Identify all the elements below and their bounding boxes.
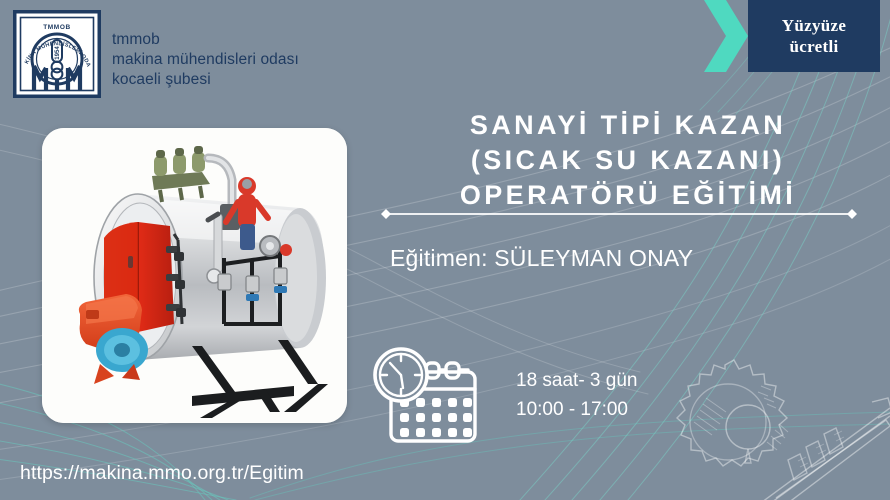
chevron-right-icon — [704, 0, 748, 72]
schedule-hours: 10:00 - 17:00 — [516, 395, 637, 424]
diamond-rule-divider — [380, 208, 858, 220]
poster-canvas: Yüzyüze ücretli TMMOB MAKİNA MÜHENDİSLER… — [0, 0, 890, 500]
page-title: SANAYİ TİPİ KAZAN (SICAK SU KAZANI) OPER… — [378, 108, 878, 213]
schedule-duration: 18 saat- 3 gün — [516, 366, 637, 395]
title-line-2: (SICAK SU KAZANI) — [378, 143, 878, 178]
tmmob-logo-icon: TMMOB MAKİNA MÜHENDİSLERİ ODASI 1954 — [13, 10, 101, 98]
trainer-name: Eğitimen: SÜLEYMAN ONAY — [390, 245, 870, 272]
website-url[interactable]: https://makina.mmo.org.tr/Egitim — [20, 462, 304, 485]
tmmob-logo-block: TMMOB MAKİNA MÜHENDİSLERİ ODASI 1954 tmm… — [13, 10, 299, 98]
logo-line-1: tmmob — [112, 30, 299, 50]
badge-line-1: Yüzyüze — [782, 15, 846, 36]
schedule-block: 18 saat- 3 gün 10:00 - 17:00 — [372, 346, 637, 444]
boiler-illustration — [42, 128, 347, 423]
badge-banner: Yüzyüze ücretli — [748, 0, 880, 72]
logo-line-2: makina mühendisleri odası — [112, 50, 299, 70]
svg-text:1954: 1954 — [55, 46, 61, 60]
title-line-1: SANAYİ TİPİ KAZAN — [378, 108, 878, 143]
badge-line-2: ücretli — [782, 36, 846, 57]
logo-line-3: kocaeli şubesi — [112, 70, 299, 90]
clock-calendar-icon — [372, 346, 502, 444]
gear-line-art-icon — [640, 330, 890, 500]
svg-text:TMMOB: TMMOB — [43, 24, 71, 31]
industrial-boiler-photo — [42, 128, 347, 423]
